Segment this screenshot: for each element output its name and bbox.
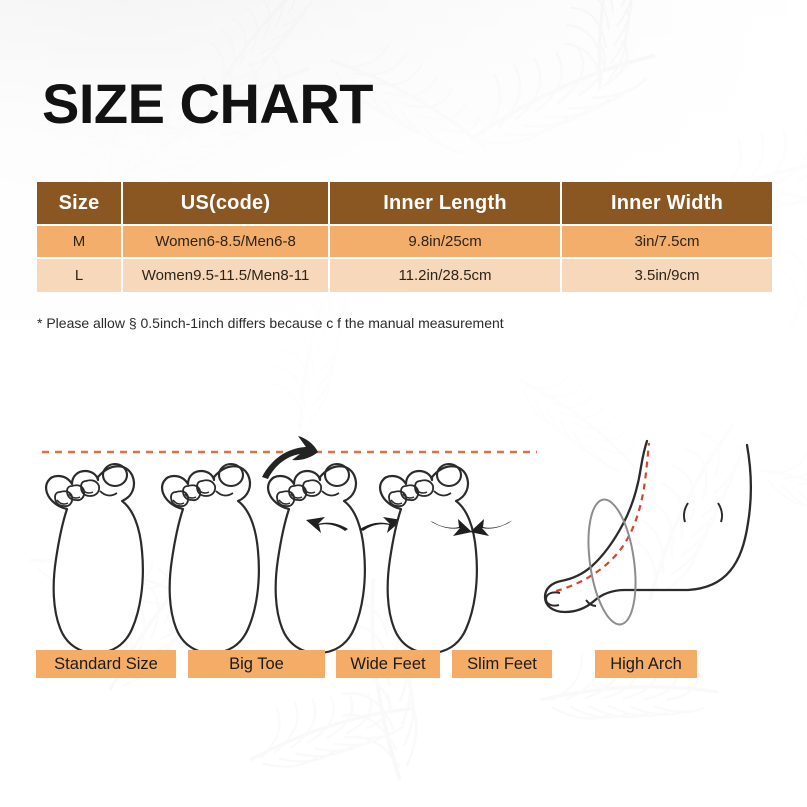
caption-big-toe: Big Toe — [188, 650, 325, 678]
table-row: L Women9.5-11.5/Men8-11 11.2in/28.5cm 3.… — [37, 259, 772, 292]
cell-inner-width: 3in/7.5cm — [562, 226, 772, 259]
cell-inner-length: 9.8in/25cm — [330, 226, 562, 259]
foot-big-toe — [162, 464, 259, 653]
caption-high-arch: High Arch — [595, 650, 697, 678]
size-table: Size US(code) Inner Length Inner Width M… — [37, 182, 772, 292]
cell-size: M — [37, 226, 123, 259]
table-header-row: Size US(code) Inner Length Inner Width — [37, 182, 772, 226]
foot-slim-feet — [380, 464, 477, 653]
caption-standard-size: Standard Size — [36, 650, 176, 678]
table-row: M Women6-8.5/Men6-8 9.8in/25cm 3in/7.5cm — [37, 226, 772, 259]
caption-wide-feet: Wide Feet — [336, 650, 440, 678]
foot-standard-size — [46, 464, 143, 653]
column-header-size: Size — [37, 182, 123, 226]
foot-wide-feet — [268, 464, 365, 653]
cell-us-code: Women6-8.5/Men6-8 — [123, 226, 330, 259]
girth-ellipse — [581, 497, 642, 628]
column-header-us-code: US(code) — [123, 182, 330, 226]
cell-size: L — [37, 259, 123, 292]
column-header-inner-length: Inner Length — [330, 182, 562, 226]
page-title: SIZE CHART — [42, 74, 373, 134]
cell-inner-length: 11.2in/28.5cm — [330, 259, 562, 292]
cell-us-code: Women9.5-11.5/Men8-11 — [123, 259, 330, 292]
size-chart-page: SIZE CHART Size US(code) Inner Length In… — [0, 0, 807, 807]
cell-inner-width: 3.5in/9cm — [562, 259, 772, 292]
foot-type-diagrams — [0, 425, 807, 675]
column-header-inner-width: Inner Width — [562, 182, 772, 226]
caption-slim-feet: Slim Feet — [452, 650, 552, 678]
measurement-disclaimer: * Please allow § 0.5inch-1inch differs b… — [37, 313, 504, 333]
foot-high-arch — [545, 441, 751, 627]
